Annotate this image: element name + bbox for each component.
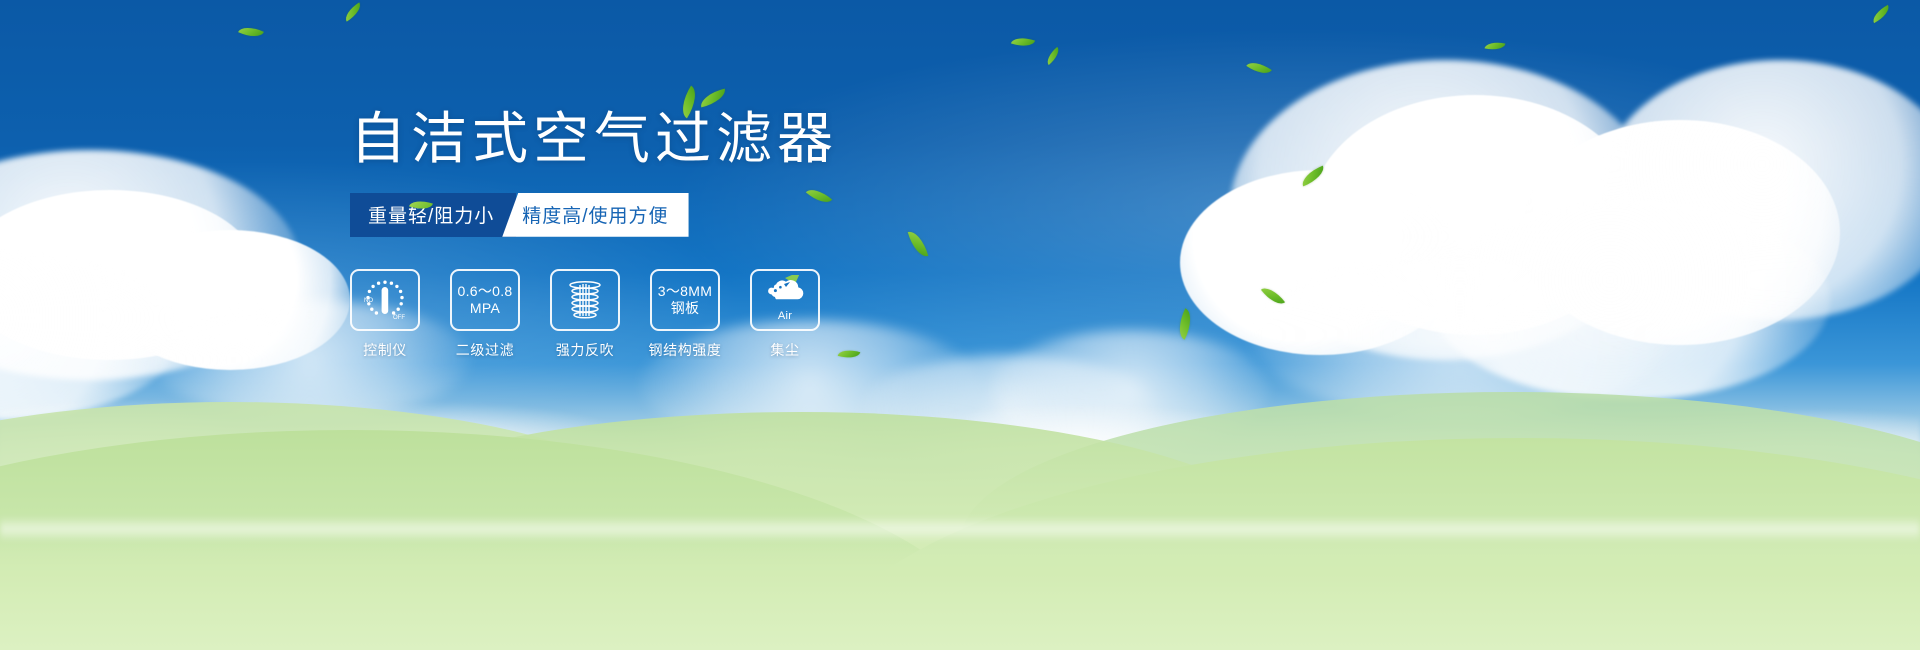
page-title: 自洁式空气过滤器 (350, 108, 1070, 171)
leaf-icon (1485, 40, 1506, 53)
tab-precision-ease[interactable]: 精度高/使用方便 (502, 193, 688, 237)
feature-box-steel: 3〜8MM 钢板 (650, 269, 720, 331)
pressure-value: 0.6〜0.8 (457, 283, 512, 300)
feature-caption-blowback: 强力反吹 (556, 340, 614, 360)
steel-thickness: 3〜8MM (658, 283, 712, 300)
air-label: Air (778, 310, 792, 323)
cloud-left-b (0, 190, 260, 360)
cloud-left-a (0, 150, 300, 380)
feature-item-steel[interactable]: 3〜8MM 钢板 钢结构强度 (650, 269, 720, 360)
gauge-label-on: NO (364, 298, 373, 304)
subtitle-tabs: 重量轻/阻力小 精度高/使用方便 (350, 193, 1070, 237)
cloud-right-g (1250, 250, 1670, 420)
leaf-icon (238, 22, 264, 41)
grass-light-streak (0, 516, 1920, 542)
feature-item-pressure[interactable]: 0.6〜0.8 MPA 二级过滤 (450, 269, 520, 360)
tab-weight-resistance[interactable]: 重量轻/阻力小 (350, 193, 516, 237)
leaf-icon (1011, 34, 1035, 51)
control-gauge-icon: NO OFF (362, 278, 408, 322)
hero-banner: 自洁式空气过滤器 重量轻/阻力小 精度高/使用方便 (0, 0, 1920, 650)
feature-caption-dust: 集尘 (770, 340, 799, 360)
feature-item-dust[interactable]: Air 集尘 (750, 269, 820, 360)
feature-list: NO OFF 控制仪 0.6〜0.8 MPA 二级过滤 (350, 269, 1070, 360)
leaf-icon (1043, 47, 1062, 65)
pressure-unit: MPA (470, 300, 500, 317)
leaf-icon (1173, 308, 1197, 339)
feature-box-blowback (550, 269, 620, 331)
leaf-icon (1246, 57, 1271, 79)
cloud-left-c (110, 230, 350, 370)
feature-item-blowback[interactable]: 强力反吹 (550, 269, 620, 360)
feature-box-pressure: 0.6〜0.8 MPA (450, 269, 520, 331)
cloud-mid-b (860, 355, 1160, 465)
cloud-right-c (1180, 170, 1460, 355)
leaf-icon (1870, 5, 1893, 23)
feature-caption-pressure: 二级过滤 (456, 340, 514, 360)
gauge-label-off: OFF (393, 315, 405, 321)
filter-cartridge-icon (563, 278, 607, 322)
leaf-icon (1299, 166, 1328, 187)
cloud-right-a (1230, 60, 1660, 360)
feature-item-control[interactable]: NO OFF 控制仪 (350, 269, 420, 360)
cloud-left-d (0, 250, 180, 420)
steel-material: 钢板 (671, 300, 700, 317)
cloud-right-f (1430, 200, 1830, 400)
feature-box-control: NO OFF (350, 269, 420, 331)
air-cloud-icon (761, 275, 809, 309)
hill-back-left (0, 402, 680, 532)
banner-content: 自洁式空气过滤器 重量轻/阻力小 精度高/使用方便 (350, 108, 1070, 360)
leaf-icon (342, 2, 365, 21)
feature-caption-steel: 钢结构强度 (649, 340, 722, 360)
leaf-icon (1261, 283, 1285, 309)
cloud-right-b (1310, 95, 1640, 335)
cloud-right-e (1600, 60, 1920, 320)
cloud-right-d (1520, 120, 1840, 345)
feature-box-dust: Air (750, 269, 820, 331)
leaf-icon (698, 89, 728, 108)
feature-caption-control: 控制仪 (363, 340, 407, 360)
grass-foreground (0, 540, 1920, 650)
